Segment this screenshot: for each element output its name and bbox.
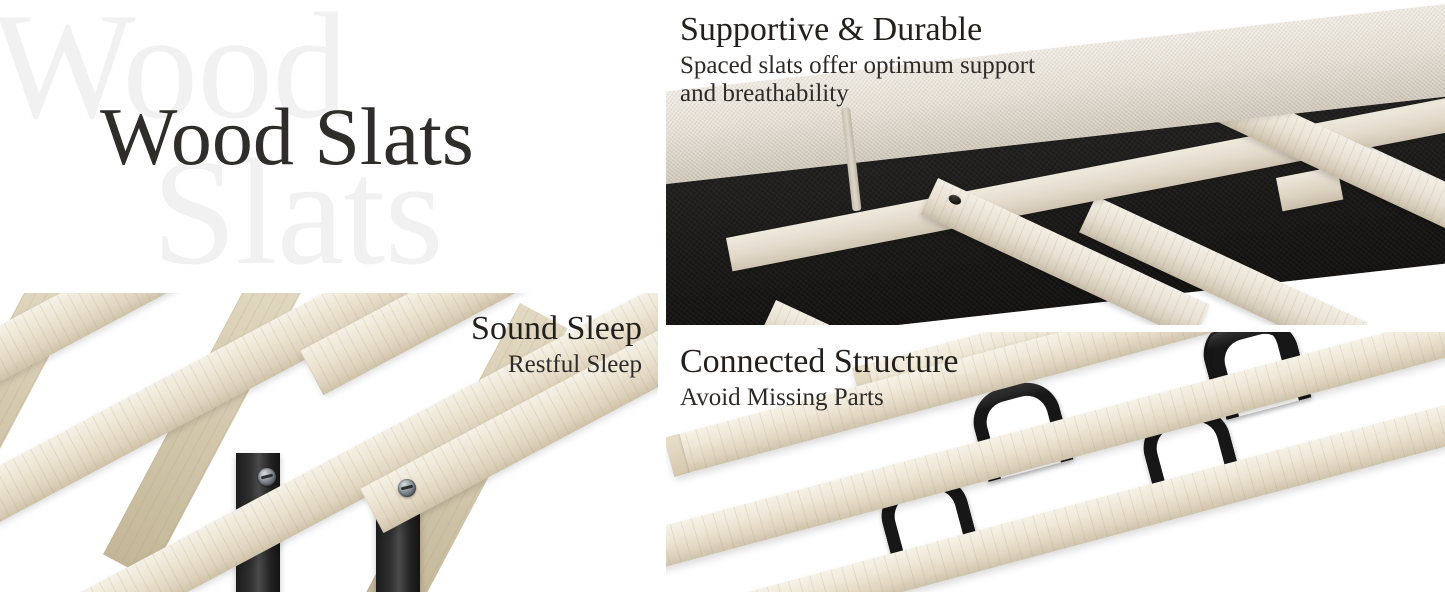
supportive-text-block: Supportive & Durable Spaced slats offer … (680, 12, 1035, 109)
page-title: Wood Slats (100, 96, 474, 178)
infographic-root: Wood Slats Wood Slats Supportive & Durab… (0, 0, 1445, 592)
sound-sleep-subtext: Restful Sleep (471, 351, 642, 380)
sound-sleep-subtext-line-1: Restful Sleep (471, 351, 642, 380)
supportive-subtext: Spaced slats offer optimum support and b… (680, 52, 1035, 109)
sound-sleep-heading: Sound Sleep (471, 311, 642, 348)
connected-heading: Connected Structure (680, 344, 959, 381)
panel-supportive-durable: Supportive & Durable Spaced slats offer … (666, 0, 1445, 325)
supportive-heading: Supportive & Durable (680, 12, 1035, 49)
connected-text-block: Connected Structure Avoid Missing Parts (680, 344, 959, 412)
screw-fastener-icon (258, 468, 276, 486)
panel-sound-sleep: Sound Sleep Restful Sleep (0, 293, 658, 592)
supportive-subtext-line-1: Spaced slats offer optimum support (680, 52, 1035, 81)
slat-end-cap (666, 434, 690, 477)
supportive-subtext-line-2: and breathability (680, 80, 1035, 109)
connected-subtext: Avoid Missing Parts (680, 384, 959, 413)
sound-sleep-text-block: Sound Sleep Restful Sleep (471, 311, 642, 379)
screw-hole-icon (947, 193, 963, 207)
panel-wood-slats-title: Wood Slats Wood Slats (0, 0, 658, 292)
screw-fastener-icon (398, 479, 416, 497)
panel-connected-structure: Connected Structure Avoid Missing Parts (666, 332, 1445, 592)
connected-subtext-line-1: Avoid Missing Parts (680, 384, 959, 413)
